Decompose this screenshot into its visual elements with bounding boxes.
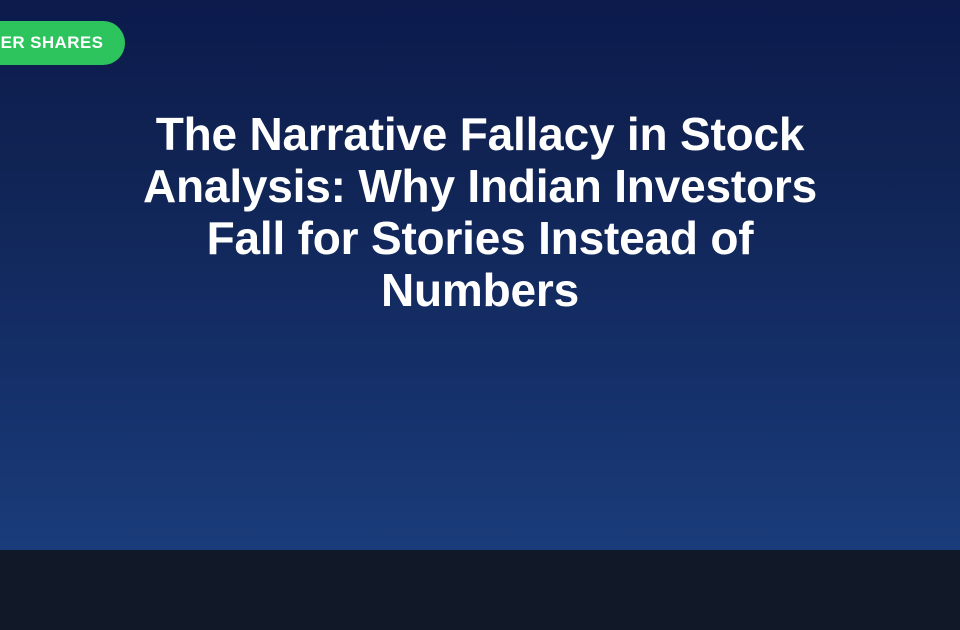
slide-stage: BAGGER SHARES The Narrative Fallacy in S… [0, 0, 960, 550]
presentation-slide: BAGGER SHARES The Narrative Fallacy in S… [0, 0, 960, 630]
slide-title-block: The Narrative Fallacy in Stock Analysis:… [0, 108, 960, 316]
brand-badge: BAGGER SHARES [0, 21, 125, 65]
slide-title: The Narrative Fallacy in Stock Analysis:… [140, 108, 820, 316]
brand-badge-label: BAGGER SHARES [0, 33, 103, 53]
slide-footer: ting Education for 200 Million Indian In… [0, 550, 960, 630]
